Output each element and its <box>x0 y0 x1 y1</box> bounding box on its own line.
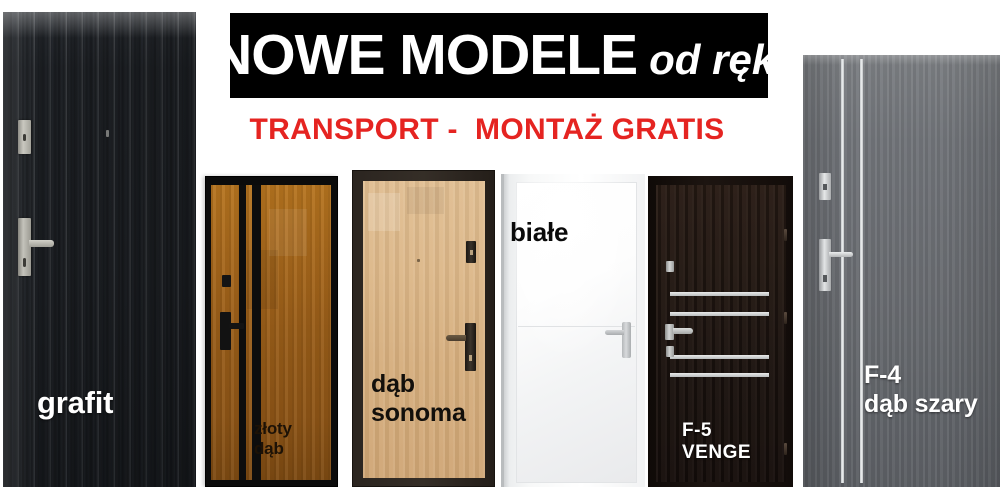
door-label-line2: dąb szary <box>864 390 978 418</box>
horizontal-inlay-stripe <box>670 292 769 296</box>
lock-plate-icon <box>222 275 231 287</box>
door-label-line2: sonoma <box>371 399 466 427</box>
gloss-sheen <box>516 182 637 362</box>
handle-plate-icon <box>819 239 831 291</box>
handle-plate-icon <box>18 218 31 276</box>
lever-handle-icon <box>605 330 624 335</box>
wood-plank <box>407 187 444 214</box>
wood-knot <box>269 209 307 256</box>
headline-secondary-text: od ręki <box>649 39 787 81</box>
door-models-poster: grafit złotydąb dąbsonoma białe <box>0 0 1000 487</box>
lever-handle-icon <box>673 328 693 334</box>
lock-plate-icon <box>666 261 674 272</box>
vertical-inlay-stripe <box>239 185 246 480</box>
subheadline-text: TRANSPORT - MONTAŻ GRATIS <box>227 113 747 147</box>
handle-plate-icon <box>622 322 631 358</box>
peephole-icon <box>417 259 420 262</box>
hinge-icon <box>784 312 787 324</box>
door-label-line1: dąb <box>371 370 415 398</box>
horizontal-inlay-stripe <box>670 312 769 316</box>
vertical-inlay-stripe <box>841 59 844 483</box>
lever-handle-icon <box>29 240 54 247</box>
lock-plate-icon <box>18 120 31 154</box>
door-label-biale: białe <box>510 218 568 248</box>
lock-cylinder-icon <box>666 346 674 357</box>
door-label-line2: VENGE <box>682 442 751 463</box>
door-label-dab-sonoma: dąbsonoma <box>371 370 466 428</box>
horizontal-inlay-stripe <box>670 373 769 377</box>
handle-plate-icon <box>465 323 476 371</box>
peephole-icon <box>106 130 109 137</box>
lever-handle-icon <box>229 323 244 329</box>
door-panel-f4-dab-szary[interactable] <box>803 55 1000 487</box>
lever-handle-icon <box>446 335 466 341</box>
lever-handle-icon <box>829 252 853 257</box>
headline-primary-text: NOWE MODELE <box>211 27 637 84</box>
door-shading <box>803 55 1000 487</box>
handle-plate-icon <box>220 312 231 350</box>
lock-plate-icon <box>819 173 831 200</box>
door-label-f4-dab-szary: F-4dąb szary <box>864 361 978 419</box>
headline-line: NOWE MODELE od ręki <box>211 27 787 84</box>
door-label-line1: F-4 <box>864 361 901 389</box>
door-label-grafit: grafit <box>37 385 113 421</box>
door-panel-dab-sonoma[interactable] <box>352 170 495 487</box>
wood-plank <box>368 193 400 232</box>
door-label-f5-venge: F-5VENGE <box>682 420 751 464</box>
lock-plate-icon <box>466 241 476 263</box>
door-label-line1: złoty <box>254 419 292 438</box>
door-label-zloty-dab: złotydąb <box>254 419 292 458</box>
vertical-inlay-stripe <box>860 59 863 483</box>
top-highlight <box>3 12 196 38</box>
door-label-line2: dąb <box>254 439 284 458</box>
door-label-line1: F-5 <box>682 420 712 441</box>
horizontal-inlay-stripe <box>670 355 769 359</box>
hinge-icon <box>784 443 787 455</box>
door-groove-line <box>518 326 635 327</box>
headline-banner: NOWE MODELE od ręki <box>230 13 768 98</box>
top-highlight <box>803 55 1000 65</box>
hinge-icon <box>784 229 787 241</box>
